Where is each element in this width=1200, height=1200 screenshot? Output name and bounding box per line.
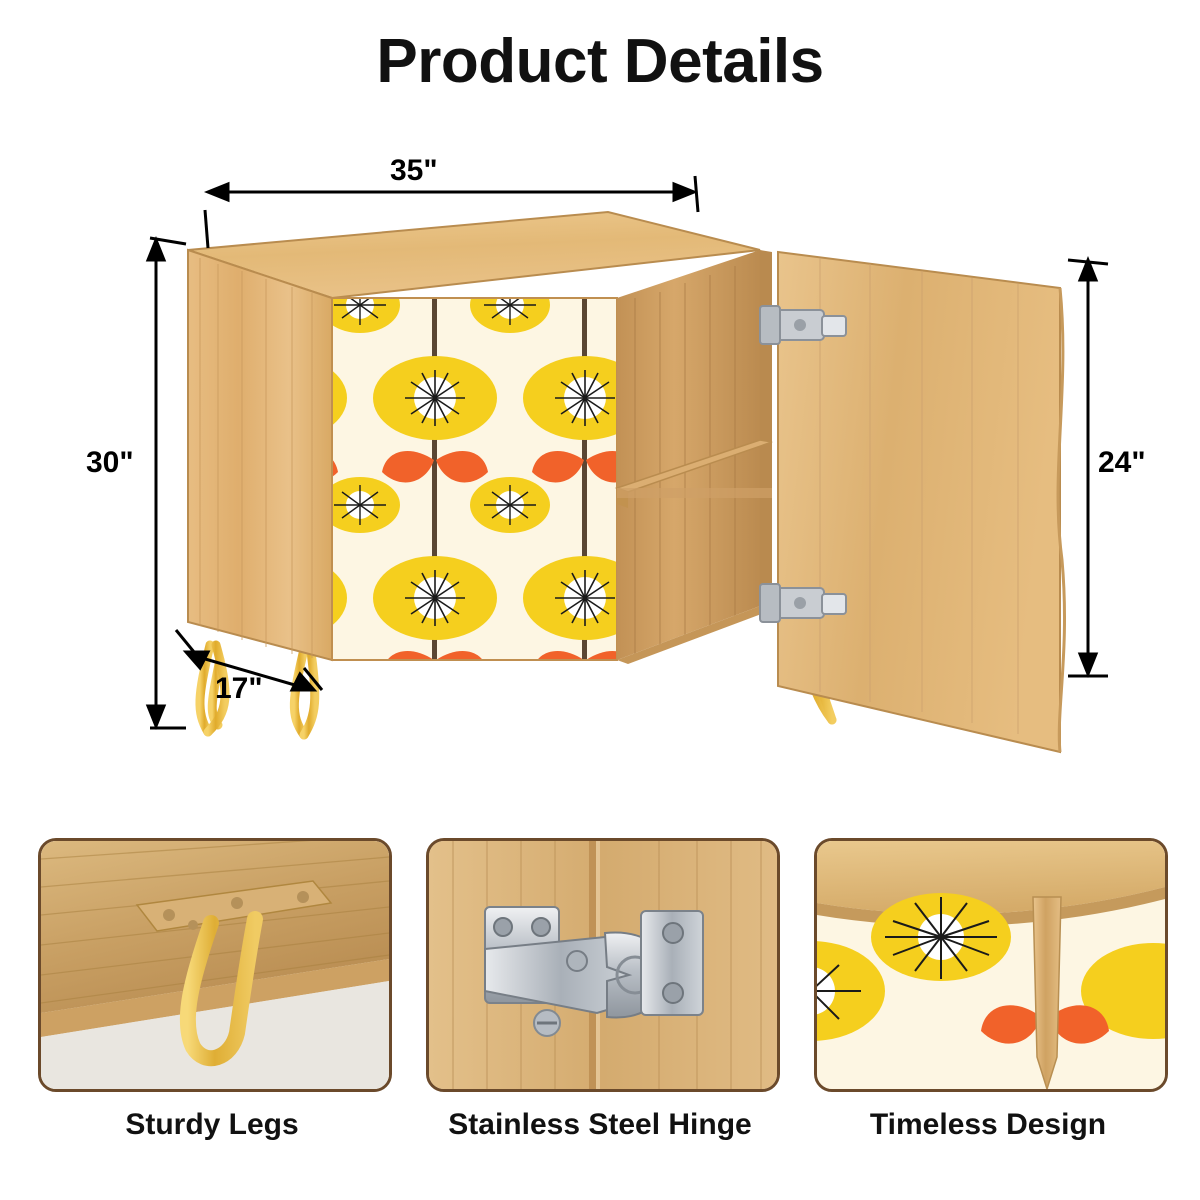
floral-pattern-closeup-photo (814, 838, 1168, 1092)
dimension-label-depth: 17" (215, 672, 263, 706)
feature-card-timeless-design: Timeless Design (814, 838, 1162, 1142)
feature-card-caption: Sturdy Legs (38, 1108, 386, 1142)
cabinet-interior-right-wall (760, 250, 772, 610)
cabinet-illustration (60, 140, 1140, 820)
feature-card-caption: Timeless Design (814, 1108, 1162, 1142)
feature-cards: Sturdy Legs (0, 838, 1200, 1178)
hinge-closeup-photo (426, 838, 780, 1092)
dimension-label-door-height: 24" (1098, 446, 1146, 480)
cabinet-dimension-diagram: 35" 30" 17" 24" (60, 140, 1140, 820)
cabinet-left-side (188, 250, 332, 660)
feature-card-sturdy-legs: Sturdy Legs (38, 838, 386, 1142)
feature-card-caption: Stainless Steel Hinge (426, 1108, 774, 1142)
dimension-label-width: 35" (390, 154, 438, 188)
dimension-label-height: 30" (86, 446, 134, 480)
feature-card-stainless-steel-hinge: Stainless Steel Hinge (426, 838, 774, 1142)
hairpin-leg-closeup-photo (38, 838, 392, 1092)
cabinet-interior-back (617, 250, 760, 660)
page-title: Product Details (0, 26, 1200, 97)
patterned-front-door (332, 298, 617, 660)
dimension-line-height (148, 238, 186, 728)
